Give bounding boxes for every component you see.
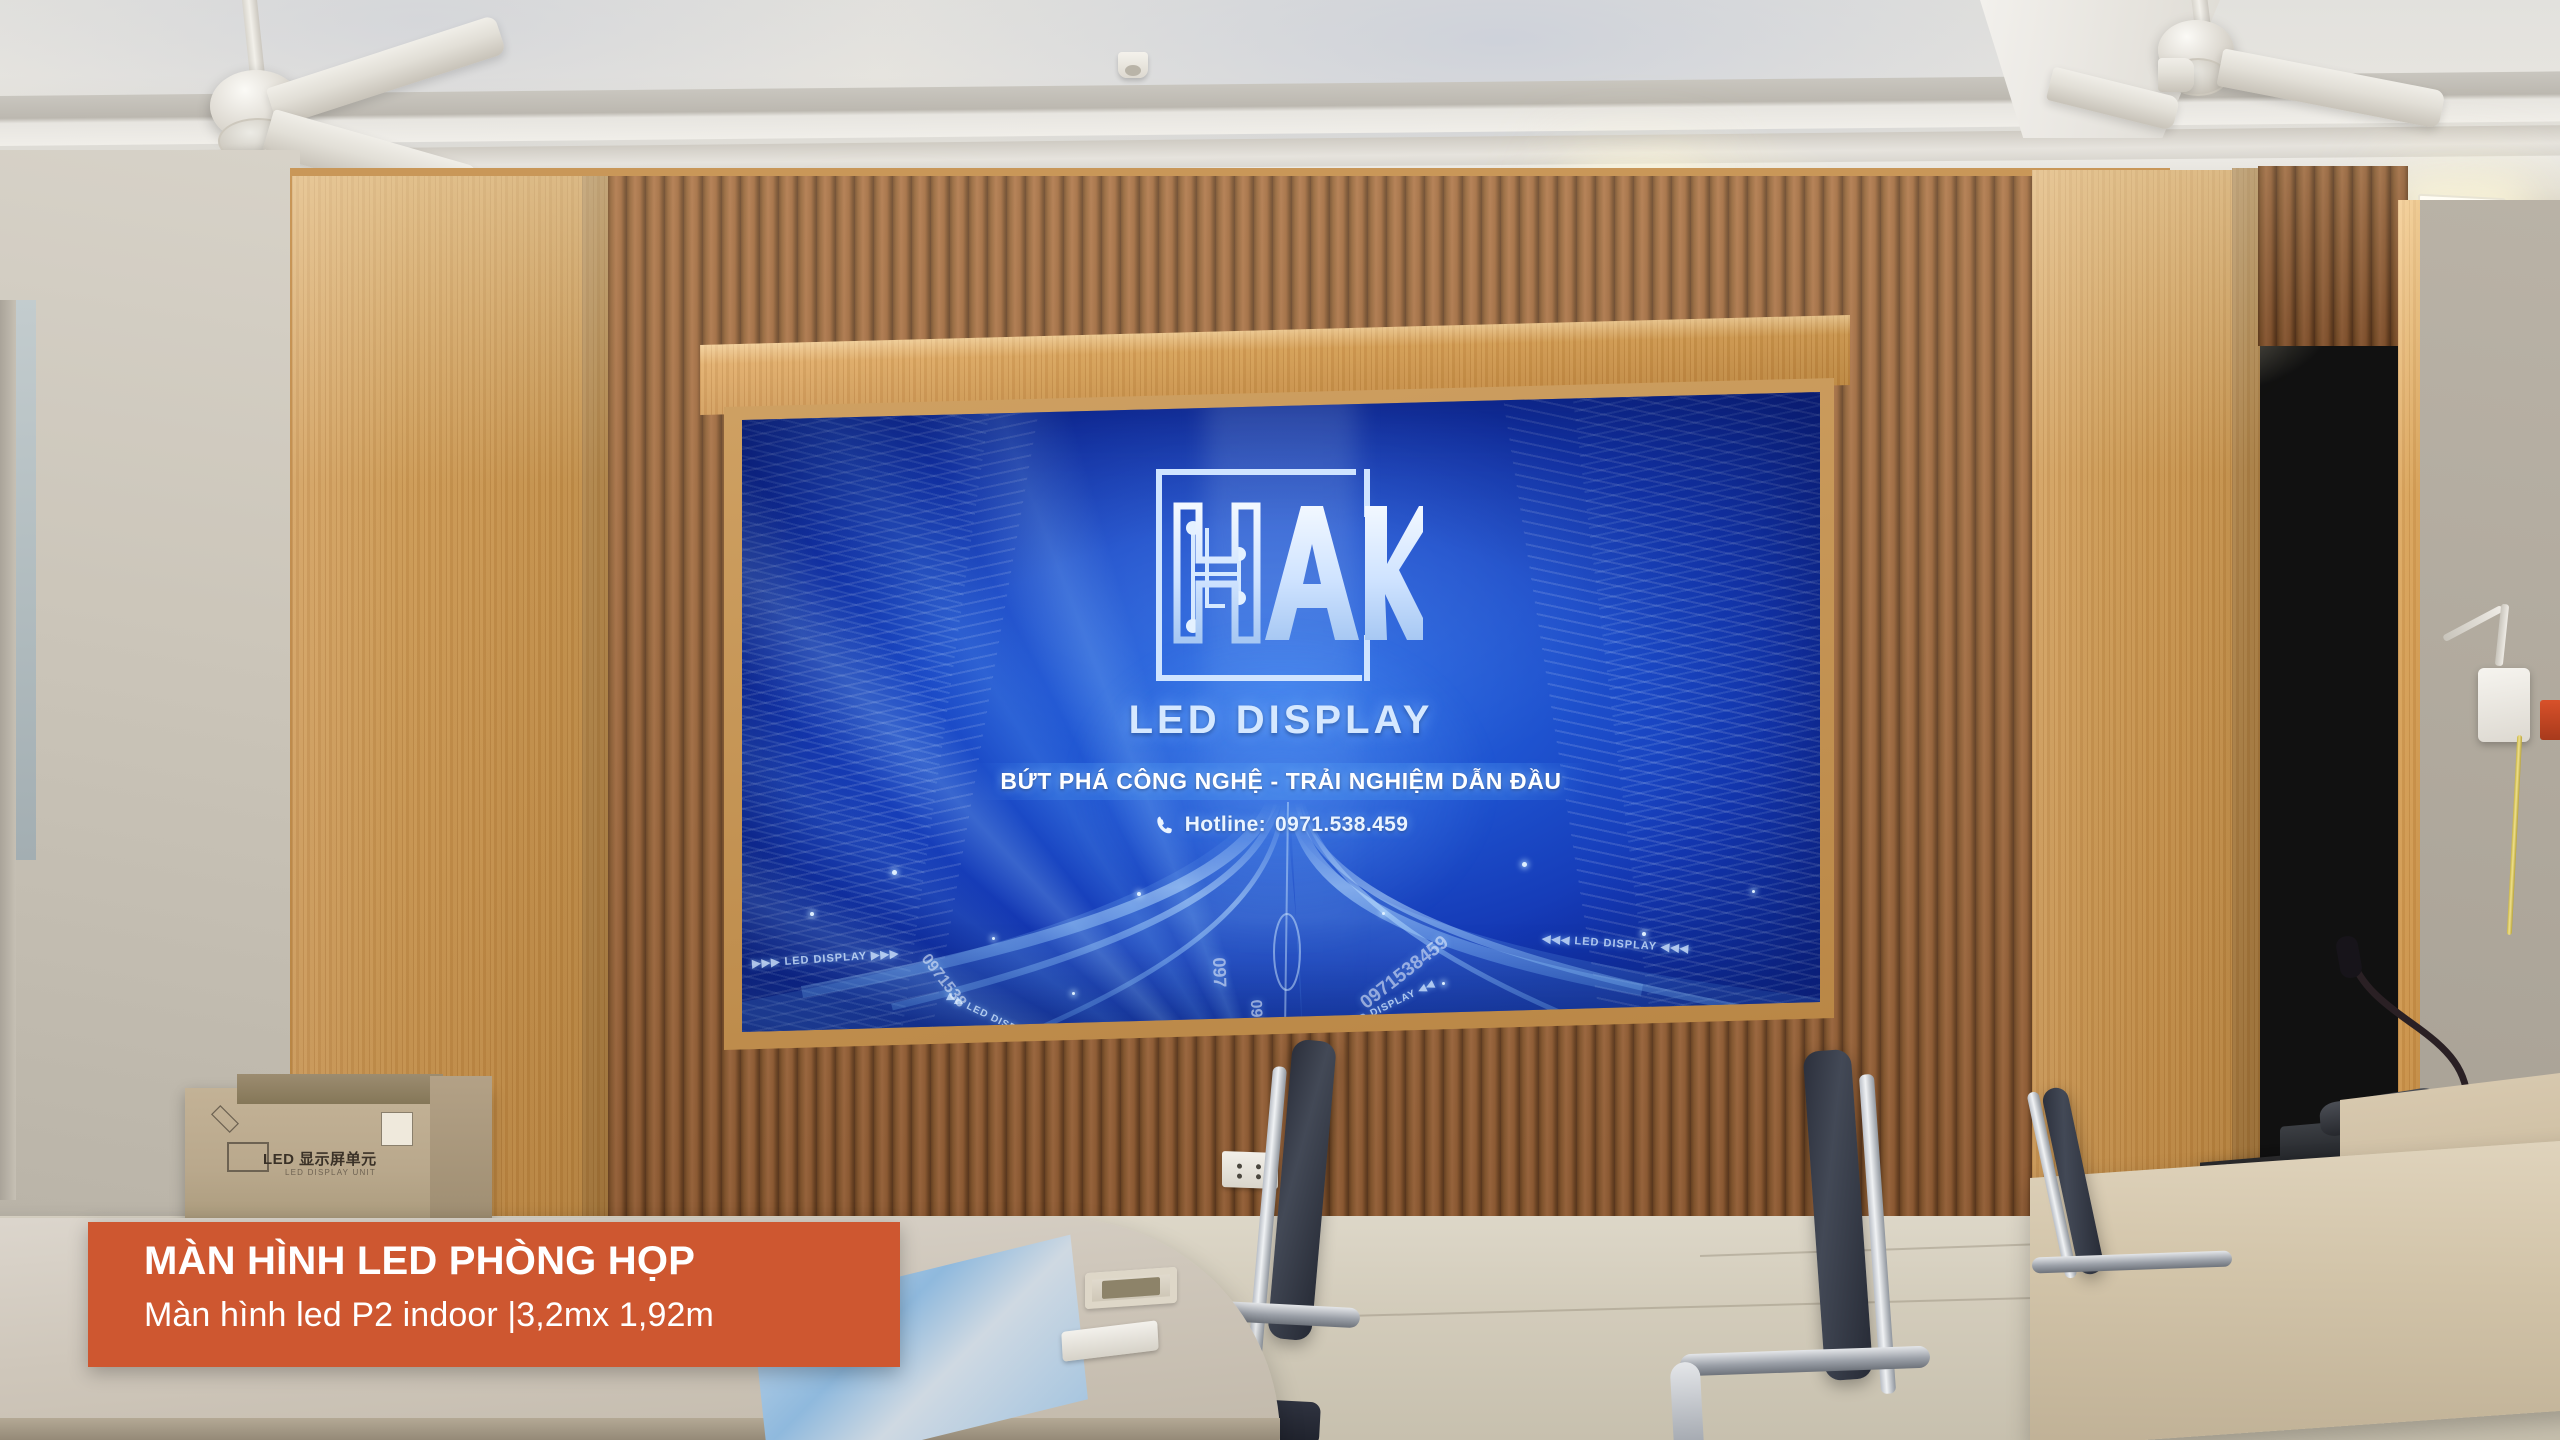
conference-table-edge bbox=[0, 1418, 1280, 1440]
hotline-label: Hotline: bbox=[1185, 813, 1266, 837]
meeting-room-photo: ▶▶▶ LED DISPLAY ▶▶▶ ▶▶ LED DISPLAY ▶▶ ◀◀… bbox=[0, 0, 2560, 1440]
wood-panel-reveal-2 bbox=[2232, 168, 2260, 1248]
led-screen[interactable]: ▶▶▶ LED DISPLAY ▶▶▶ ▶▶ LED DISPLAY ▶▶ ◀◀… bbox=[742, 392, 1820, 1032]
carton-label: LED 显示屏单元 bbox=[263, 1148, 377, 1169]
hak-logo-mark bbox=[1121, 466, 1441, 684]
carton-handling-symbol-icon bbox=[381, 1112, 413, 1146]
screen-micro-number: 097 bbox=[1208, 957, 1230, 988]
table-cable-grommet bbox=[1085, 1267, 1177, 1309]
carton-open-top bbox=[237, 1074, 443, 1104]
door-frame bbox=[0, 300, 16, 1200]
hak-letters bbox=[1173, 498, 1423, 648]
led-module-carton: LED 显示屏单元 LED DISPLAY UNIT bbox=[185, 1088, 490, 1238]
wood-panel-reveal bbox=[582, 176, 610, 1266]
carton-sublabel: LED DISPLAY UNIT bbox=[285, 1168, 376, 1177]
phone-icon bbox=[1154, 814, 1176, 836]
led-display-subtitle: LED DISPLAY bbox=[1129, 698, 1434, 743]
carton-side-flap bbox=[430, 1076, 492, 1238]
led-content-block: LED DISPLAY BỨT PHÁ CÔNG NGHỆ - TRẢI NGH… bbox=[742, 466, 1820, 837]
fragile-symbol-icon bbox=[211, 1105, 239, 1133]
side-desk bbox=[2030, 1136, 2560, 1440]
caption-title: MÀN HÌNH LED PHÒNG HỌP bbox=[144, 1240, 900, 1282]
led-tagline: BỨT PHÁ CÔNG NGHỆ - TRẢI NGHIỆM DẪN ĐẦU bbox=[1000, 768, 1561, 795]
caption-subtitle: Màn hình led P2 indoor |3,2mx 1,92m bbox=[144, 1296, 900, 1335]
power-strip bbox=[2540, 700, 2560, 740]
smoke-detector-icon bbox=[1118, 52, 1148, 78]
led-hotline: Hotline: 0971.538.459 bbox=[1154, 813, 1409, 837]
tagline-band: BỨT PHÁ CÔNG NGHỆ - TRẢI NGHIỆM DẪN ĐẦU bbox=[974, 763, 1587, 800]
hotline-number: 0971.538.459 bbox=[1275, 813, 1408, 837]
caption-banner: MÀN HÌNH LED PHÒNG HỌP Màn hình led P2 i… bbox=[88, 1222, 900, 1367]
wood-slat-wall-upper-right bbox=[2258, 166, 2408, 346]
wifi-router-icon bbox=[2478, 668, 2530, 742]
